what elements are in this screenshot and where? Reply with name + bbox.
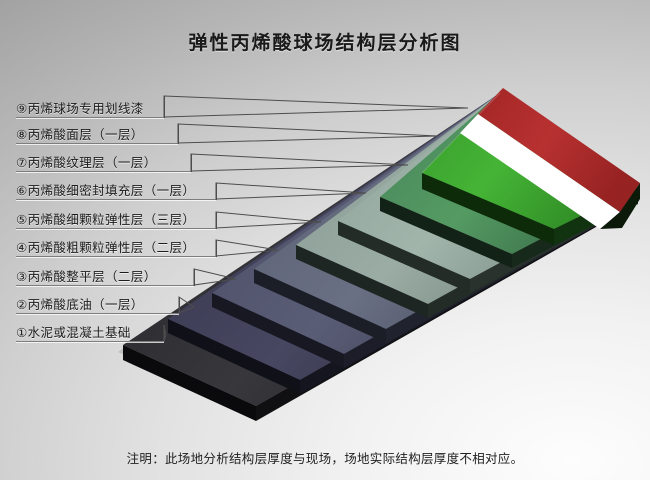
callout-leader-line bbox=[179, 293, 194, 314]
callout-leader-line bbox=[164, 321, 166, 342]
callout-leader-line bbox=[216, 208, 321, 229]
diagram-canvas: 弹性丙烯酸球场结构层分析图 bbox=[0, 0, 650, 480]
callout-underline bbox=[16, 228, 216, 229]
callout-pointer-arrow bbox=[191, 154, 408, 171]
callout-underline bbox=[16, 199, 216, 200]
callout-pointer-arrow bbox=[178, 124, 438, 143]
callout-leader-line bbox=[178, 120, 438, 144]
callout-leader-line bbox=[216, 179, 366, 200]
callout-pointer-arrow bbox=[194, 269, 236, 285]
callout-leader-line bbox=[191, 150, 408, 172]
callout-leader-line bbox=[216, 236, 278, 257]
callout-label: ⑧丙烯酸面层（一层） bbox=[16, 122, 636, 144]
callout-label: ⑥丙烯酸细密封填充层（一层） bbox=[16, 178, 636, 200]
callout-pointer-arrow bbox=[216, 240, 278, 256]
callout-underline bbox=[16, 256, 216, 257]
callout-label-text: ④丙烯酸粗颗粒弹性层（二层） bbox=[16, 240, 195, 255]
callout-label-text: ⑧丙烯酸面层（一层） bbox=[16, 127, 144, 142]
callout-label-text: ⑥丙烯酸细密封填充层（一层） bbox=[16, 183, 195, 198]
callout-pointer-arrow bbox=[164, 96, 468, 117]
callout-underline bbox=[16, 313, 179, 314]
callout-underline bbox=[16, 117, 164, 118]
callout-label: ⑤丙烯酸细颗粒弹性层（三层） bbox=[16, 207, 636, 229]
callout-leader-line bbox=[194, 265, 236, 286]
callout-pointer-arrow bbox=[179, 297, 194, 313]
callout-underline bbox=[16, 143, 178, 144]
callout-label: ①水泥或混凝土基础 bbox=[16, 320, 636, 342]
callout-label: ⑨丙烯球场专用划线漆 bbox=[16, 96, 636, 118]
callout-pointer-arrow bbox=[216, 183, 366, 199]
callout-label-text: ⑤丙烯酸细颗粒弹性层（三层） bbox=[16, 212, 195, 227]
callout-label: ④丙烯酸粗颗粒弹性层（二层） bbox=[16, 235, 636, 257]
callout-label-text: ⑨丙烯球场专用划线漆 bbox=[16, 101, 144, 116]
callout-label-text: ①水泥或混凝土基础 bbox=[16, 325, 131, 340]
callout-label: ③丙烯酸整平层（二层） bbox=[16, 264, 636, 286]
callout-label-text: ③丙烯酸整平层（二层） bbox=[16, 269, 157, 284]
footnote-text: 注明：此场地分析结构层厚度与现场，场地实际结构层厚度不相对应。 bbox=[0, 448, 650, 467]
callout-label: ②丙烯酸底油（一层） bbox=[16, 292, 636, 314]
callout-label: ⑦丙烯酸纹理层（一层） bbox=[16, 150, 636, 172]
callout-leader-line bbox=[164, 92, 468, 118]
callout-pointer-arrow bbox=[164, 325, 166, 341]
callout-pointer-arrow bbox=[216, 212, 321, 228]
callout-underline bbox=[16, 341, 164, 342]
callout-label-text: ⑦丙烯酸纹理层（一层） bbox=[16, 155, 157, 170]
callout-underline bbox=[16, 285, 194, 286]
callout-label-text: ②丙烯酸底油（一层） bbox=[16, 297, 144, 312]
callout-underline bbox=[16, 171, 191, 172]
